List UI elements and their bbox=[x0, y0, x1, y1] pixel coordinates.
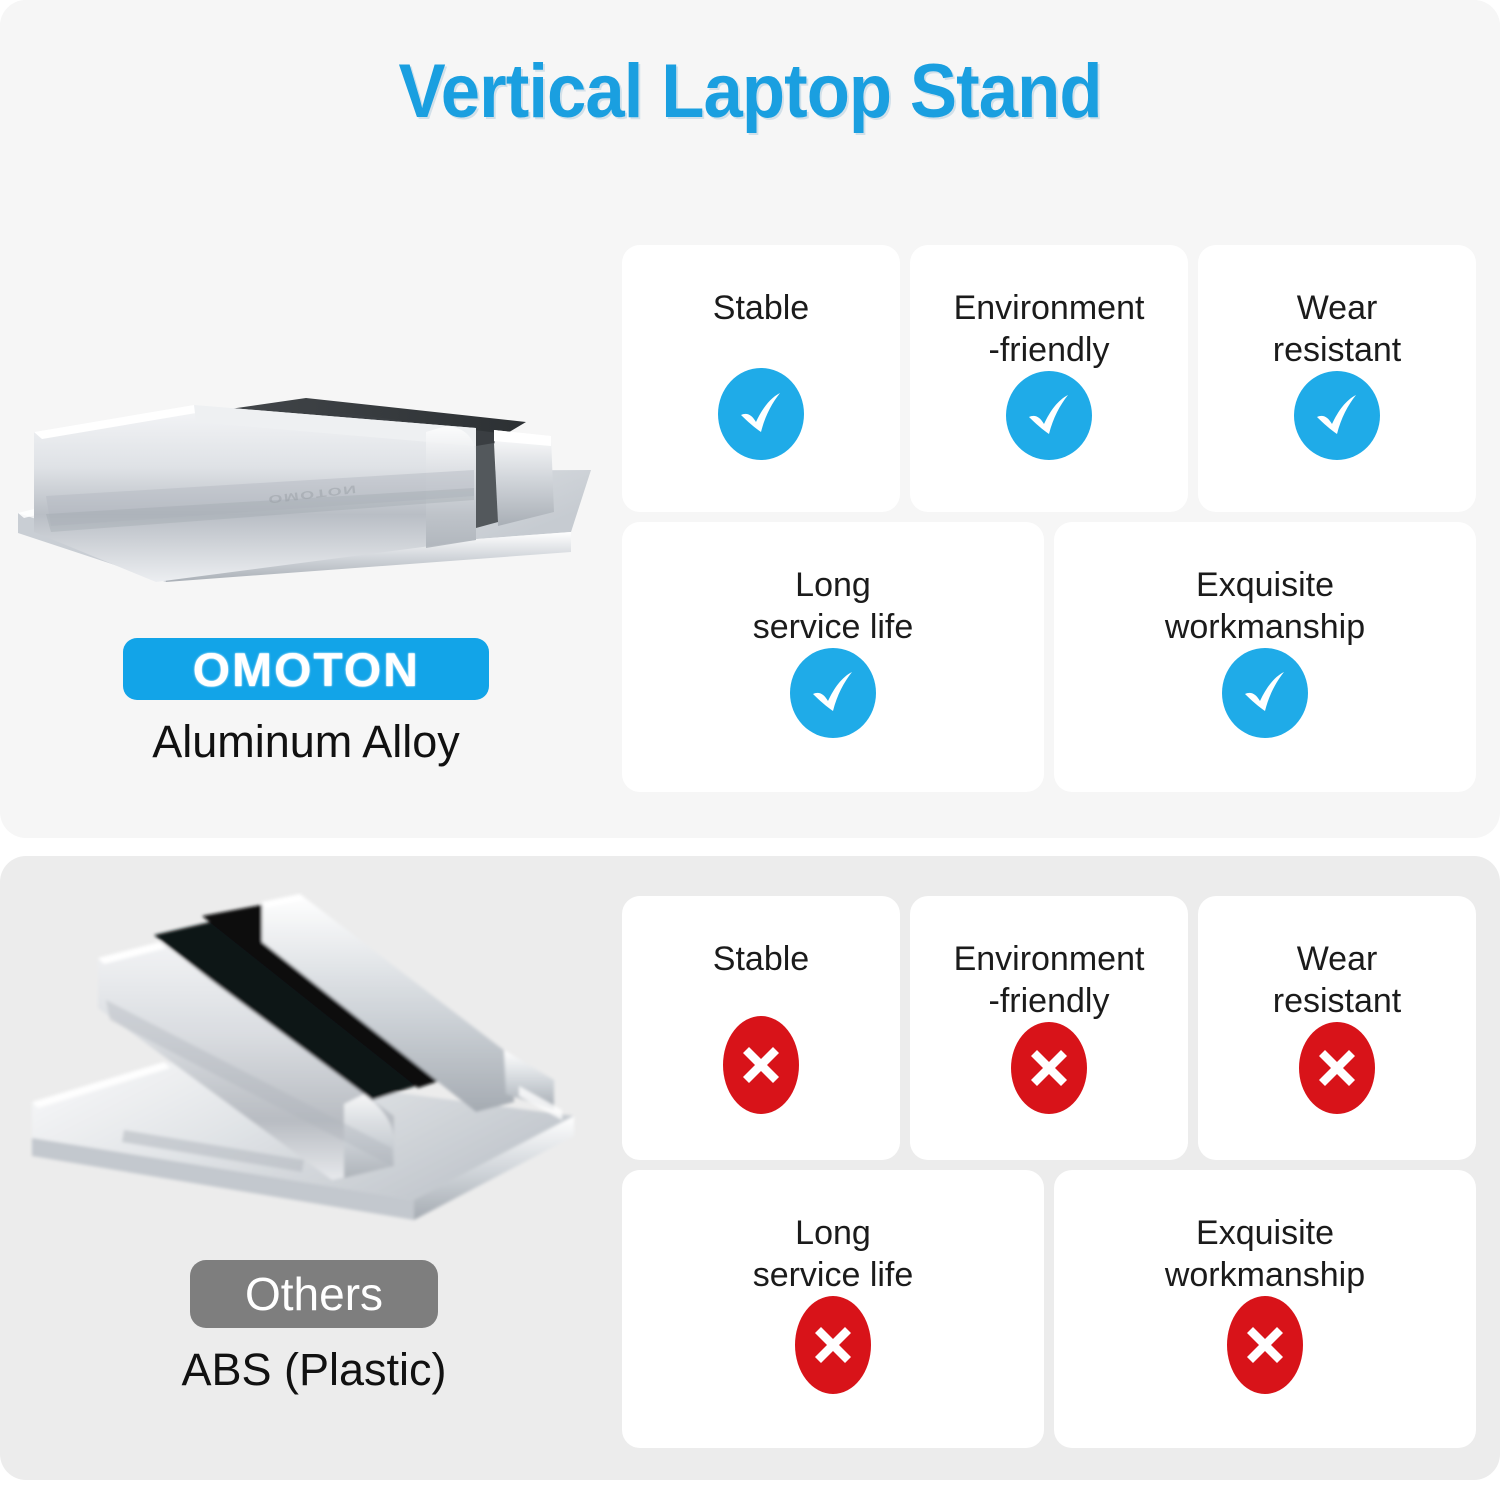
cross-icon bbox=[1299, 1022, 1375, 1114]
brand-badge-label: Others bbox=[245, 1267, 383, 1321]
cross-icon bbox=[795, 1296, 871, 1394]
feature-card-environment-friendly[interactable]: Environment -friendly bbox=[910, 896, 1188, 1160]
page-title-bar: Vertical Laptop Stand bbox=[0, 0, 1500, 182]
cross-icon bbox=[1011, 1022, 1087, 1114]
feature-label: Environment -friendly bbox=[954, 287, 1145, 371]
check-icon bbox=[790, 648, 876, 738]
feature-card-wear-resistant[interactable]: Wear resistant bbox=[1198, 245, 1476, 512]
aluminum-stand-illustration: OMOTON bbox=[6, 300, 606, 620]
check-icon bbox=[718, 368, 804, 460]
feature-label: Long service life bbox=[753, 1212, 914, 1296]
feature-card-stable[interactable]: Stable bbox=[622, 896, 900, 1160]
product-omoton: OMOTON OMOTON Aluminum Alloy bbox=[6, 300, 606, 768]
feature-label: Wear resistant bbox=[1273, 287, 1402, 371]
feature-label: Stable bbox=[713, 287, 809, 329]
material-label-omoton: Aluminum Alloy bbox=[152, 716, 460, 768]
check-icon bbox=[1006, 371, 1092, 460]
feature-card-long-service-life[interactable]: Long service life bbox=[622, 1170, 1044, 1448]
feature-row-1: Stable Environment -friendly Wear resist… bbox=[622, 245, 1476, 512]
feature-label: Environment -friendly bbox=[954, 938, 1145, 1022]
brand-badge-others: Others bbox=[190, 1260, 438, 1328]
check-icon bbox=[1222, 648, 1308, 738]
plastic-stand-illustration bbox=[14, 880, 614, 1240]
omoton-feature-grid: Stable Environment -friendly Wear resist… bbox=[622, 245, 1476, 792]
feature-row-1: Stable Environment -friendly Wear resist… bbox=[622, 896, 1476, 1160]
feature-card-long-service-life[interactable]: Long service life bbox=[622, 522, 1044, 792]
product-others: Others ABS (Plastic) bbox=[14, 880, 614, 1396]
feature-label: Exquisite workmanship bbox=[1165, 564, 1365, 648]
feature-label: Wear resistant bbox=[1273, 938, 1402, 1022]
others-feature-grid: Stable Environment -friendly Wear resist… bbox=[622, 896, 1476, 1448]
feature-row-2: Long service life Exquisite workmanship bbox=[622, 522, 1476, 792]
feature-label: Exquisite workmanship bbox=[1165, 1212, 1365, 1296]
feature-label: Stable bbox=[713, 938, 809, 980]
page-title: Vertical Laptop Stand bbox=[398, 48, 1101, 135]
omoton-stand-image: OMOTON bbox=[6, 300, 606, 620]
cross-icon bbox=[1227, 1296, 1303, 1394]
feature-card-exquisite-workmanship[interactable]: Exquisite workmanship bbox=[1054, 522, 1476, 792]
feature-card-stable[interactable]: Stable bbox=[622, 245, 900, 512]
feature-card-wear-resistant[interactable]: Wear resistant bbox=[1198, 896, 1476, 1160]
brand-badge-omoton: OMOTON bbox=[123, 638, 489, 700]
brand-badge-label: OMOTON bbox=[192, 642, 419, 697]
feature-row-2: Long service life Exquisite workmanship bbox=[622, 1170, 1476, 1448]
others-stand-image bbox=[14, 880, 614, 1240]
feature-card-environment-friendly[interactable]: Environment -friendly bbox=[910, 245, 1188, 512]
material-label-others: ABS (Plastic) bbox=[181, 1344, 446, 1396]
feature-card-exquisite-workmanship[interactable]: Exquisite workmanship bbox=[1054, 1170, 1476, 1448]
cross-icon bbox=[723, 1016, 799, 1114]
check-icon bbox=[1294, 371, 1380, 460]
feature-label: Long service life bbox=[753, 564, 914, 648]
